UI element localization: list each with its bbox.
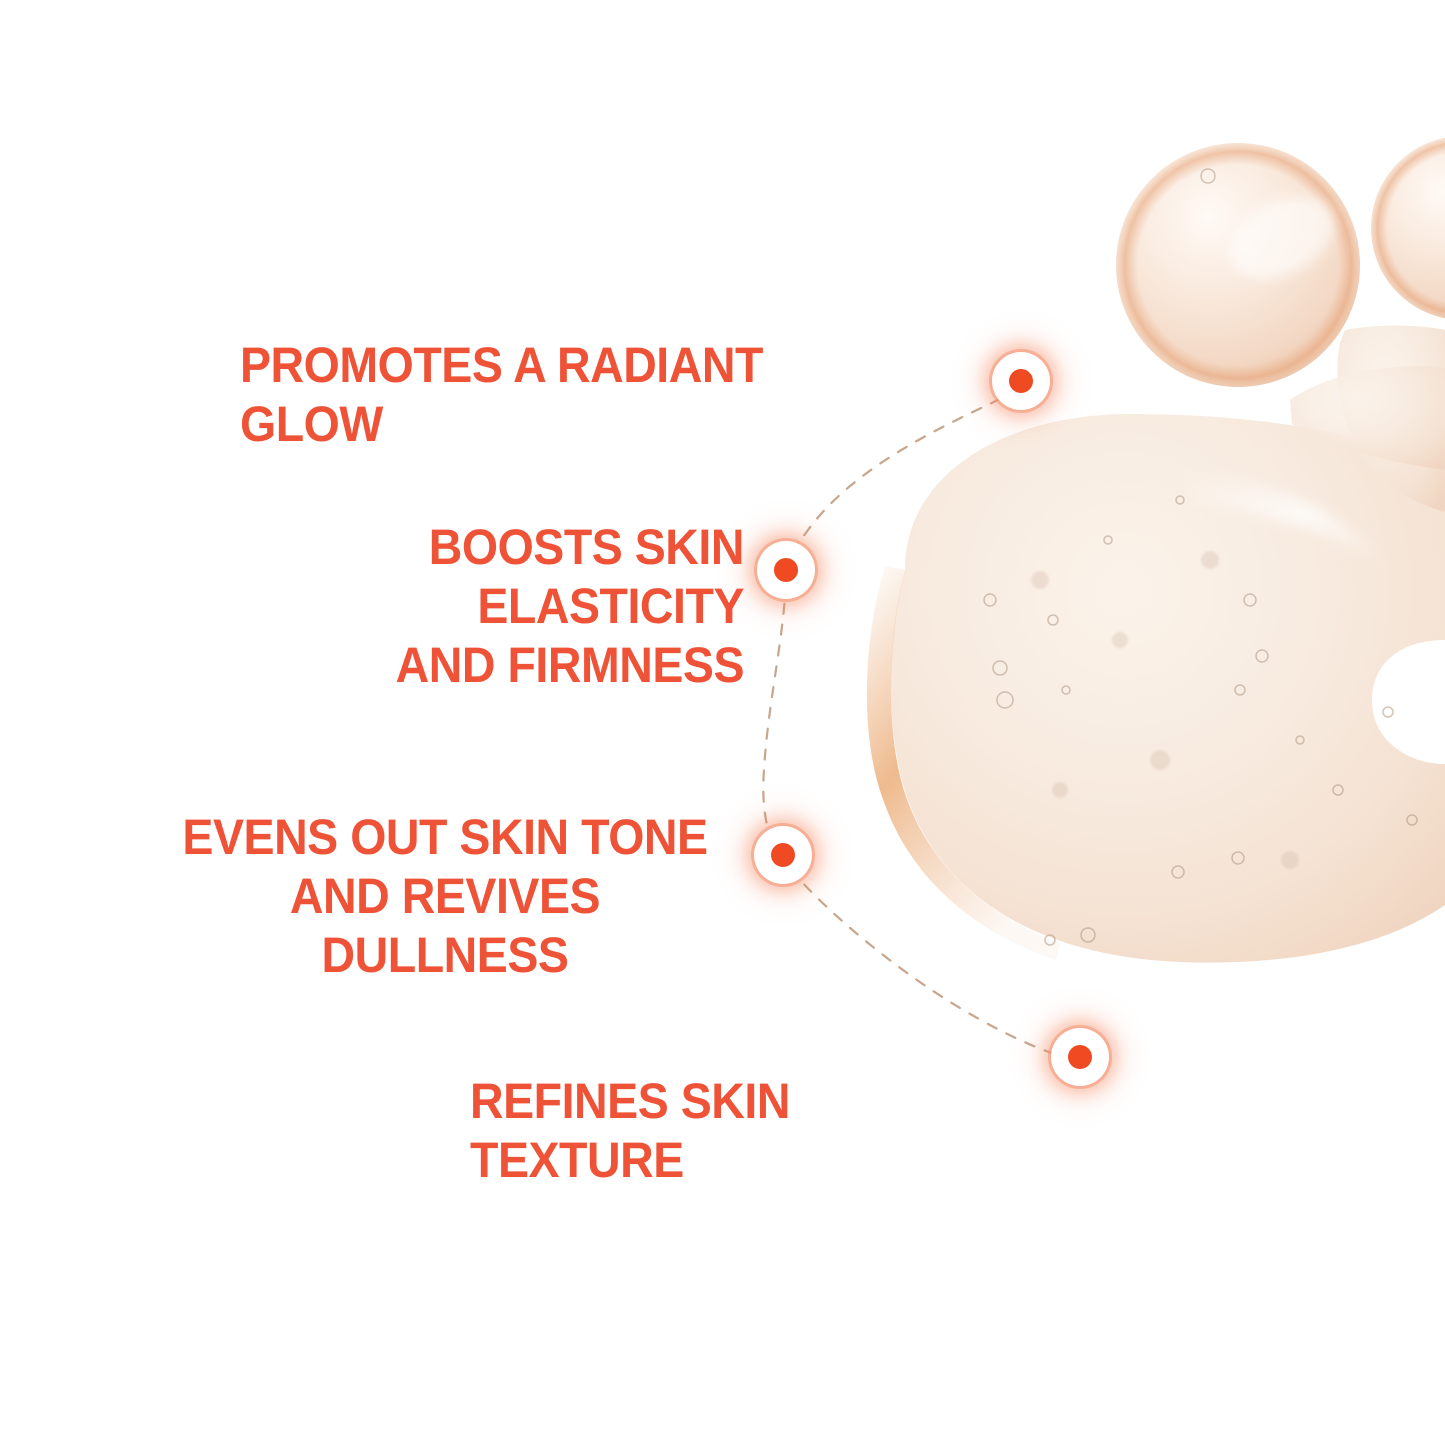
gel-right-lobe — [1337, 326, 1445, 512]
gel-imagery — [0, 0, 1445, 1445]
benefit-label-promotes-radiant-glow: PROMOTES A RADIANT GLOW — [240, 336, 910, 454]
gel-droplet-clipped — [1371, 136, 1445, 320]
benefit-marker-dot-boosts-elasticity-firmness — [757, 541, 815, 599]
dashed-connector-path — [763, 399, 1062, 1056]
marker-core-icon — [774, 558, 798, 582]
benefit-marker-dot-refines-skin-texture — [1051, 1028, 1109, 1086]
gel-bubble-soft-dots — [1031, 551, 1299, 869]
marker-core-icon — [1068, 1045, 1092, 1069]
infographic-canvas: PROMOTES A RADIANT GLOW BOOSTS SKIN ELAS… — [0, 0, 1445, 1445]
benefit-label-refines-skin-texture: REFINES SKIN TEXTURE — [470, 1072, 1000, 1190]
gel-droplet-large — [1116, 143, 1360, 387]
gel-blob-bridge — [1290, 366, 1445, 470]
gel-blob-amber-edge — [867, 566, 1060, 960]
benefit-marker-dot-evens-skin-tone — [754, 826, 812, 884]
marker-core-icon — [1009, 369, 1033, 393]
benefit-marker-dot-promotes-radiant-glow — [992, 352, 1050, 410]
gel-blob-sheen — [1180, 470, 1396, 580]
benefit-label-evens-skin-tone: EVENS OUT SKIN TONE AND REVIVES DULLNESS — [171, 808, 720, 985]
gel-air-bubbles — [984, 496, 1417, 945]
marker-core-icon — [771, 843, 795, 867]
gel-main-blob — [891, 414, 1445, 963]
benefit-label-boosts-elasticity-firmness: BOOSTS SKIN ELASTICITY AND FIRMNESS — [177, 518, 744, 695]
